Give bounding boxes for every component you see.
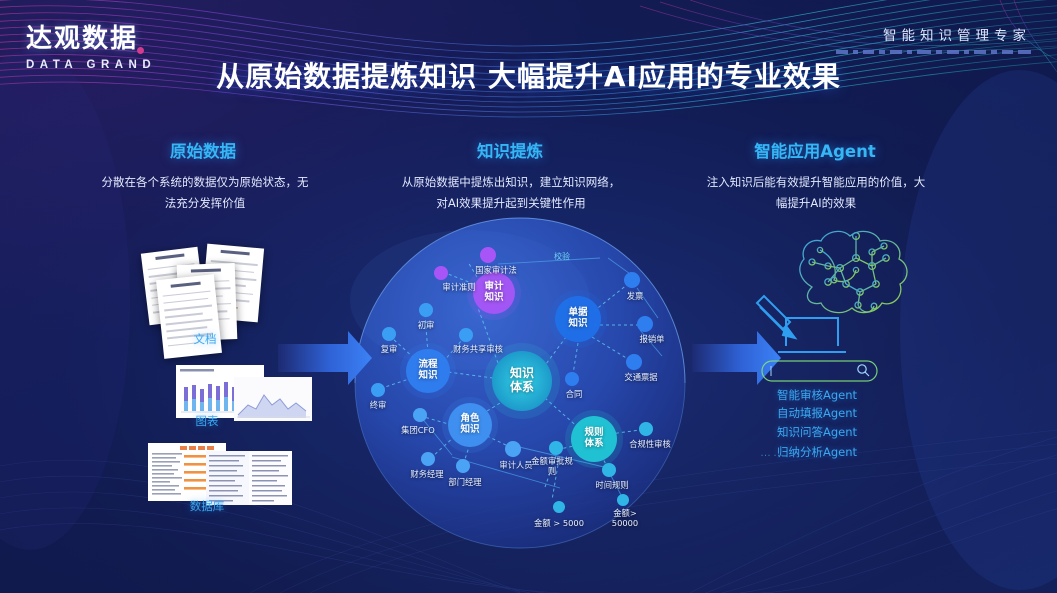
laptop-icon	[778, 318, 846, 352]
graph-center-knowledge-system: 知识 体系	[510, 367, 534, 395]
graph-leaf-finance-shared-review: 财务共享审核	[453, 343, 503, 355]
graph-leaf-group-cfo: 集团CFO	[401, 424, 435, 436]
tagline-dash-decoration	[836, 50, 1031, 54]
agent-item-summary-analysis[interactable]: 归纳分析Agent	[777, 444, 857, 460]
source-label-charts: 图表	[152, 413, 262, 429]
graph-leaf-transport-ticket: 交通票据	[624, 371, 657, 383]
page-title: 从原始数据提炼知识 大幅提升AI应用的专业效果	[0, 55, 1057, 95]
column-description-knowledge-extraction: 从原始数据中提炼出知识，建立知识网络，对AI效果提升起到关键性作用	[400, 172, 622, 215]
graph-hub-role: 角色 知识	[460, 414, 479, 436]
pencil-icon	[757, 296, 795, 338]
column-description-raw-data: 分散在各个系统的数据仅为原始状态，无法充分发挥价值	[100, 172, 310, 215]
arrow-center-to-right	[692, 331, 781, 385]
graph-hub-process: 流程 知识	[418, 360, 437, 382]
brand-name-cn: 达观数据	[26, 18, 138, 55]
column-heading-raw-data: 原始数据	[108, 138, 298, 162]
graph-leaf-department-manager: 部门经理	[448, 476, 481, 488]
column-heading-knowledge-extraction: 知识提炼	[415, 138, 605, 162]
brand-tagline-block: 智能知识管理专家	[836, 24, 1031, 54]
agent-item-auto-fill[interactable]: 自动填报Agent	[777, 405, 857, 421]
source-label-documents: 文档	[150, 331, 260, 347]
brand-dot-icon	[137, 47, 144, 54]
graph-leaf-final-review: 终审	[370, 399, 387, 411]
slide-canvas: 达观数据 DATA GRAND 智能知识管理专家 从原始数据提炼知识 大幅提升A…	[0, 0, 1057, 593]
graph-leaf-finance-manager: 财务经理	[410, 468, 443, 480]
graph-leaf-contract: 合同	[566, 388, 583, 400]
source-label-database: 数据库	[152, 498, 262, 514]
graph-leaf-audit-staff: 审计人员	[499, 459, 532, 471]
graph-leaf-first-review: 初审	[418, 319, 435, 331]
graph-leaf-national-audit-law: 国家审计法	[475, 264, 517, 276]
graph-hub-rule: 规则 体系	[584, 428, 603, 450]
graph-leaf-compliance-review: 合规性审核	[629, 438, 671, 450]
graph-edge-label-verify: 校验	[554, 251, 570, 262]
column-heading-agent: 智能应用Agent	[715, 138, 915, 162]
graph-hub-audit: 审计 知识	[484, 282, 503, 304]
graph-hub-document: 单据 知识	[568, 308, 587, 330]
graph-leaf-second-review: 复审	[381, 343, 398, 355]
graph-leaf-amount-approval-rule: 金额审批规则	[529, 457, 575, 477]
brain-illustration	[800, 231, 907, 312]
agent-list-ellipsis: ……	[760, 447, 786, 459]
graph-leaf-expense-claim: 报销单	[640, 333, 665, 345]
agent-item-smart-audit[interactable]: 智能审核Agent	[777, 387, 857, 403]
graph-leaf-invoice: 发票	[627, 290, 644, 302]
graph-leaf-amount-gt-50000: 金额> 50000	[605, 509, 645, 529]
agent-item-knowledge-qa[interactable]: 知识问答Agent	[777, 424, 857, 440]
graph-leaf-amount-gt-5000: 金额 > 5000	[534, 517, 584, 529]
graph-leaf-time-rule: 时间规则	[595, 479, 628, 491]
graph-leaf-audit-standard: 审计准则	[442, 281, 475, 293]
column-description-agent: 注入知识后能有效提升智能应用的价值，大幅提升AI的效果	[702, 172, 930, 215]
search-box	[762, 361, 877, 381]
brand-tagline: 智能知识管理专家	[836, 24, 1031, 44]
